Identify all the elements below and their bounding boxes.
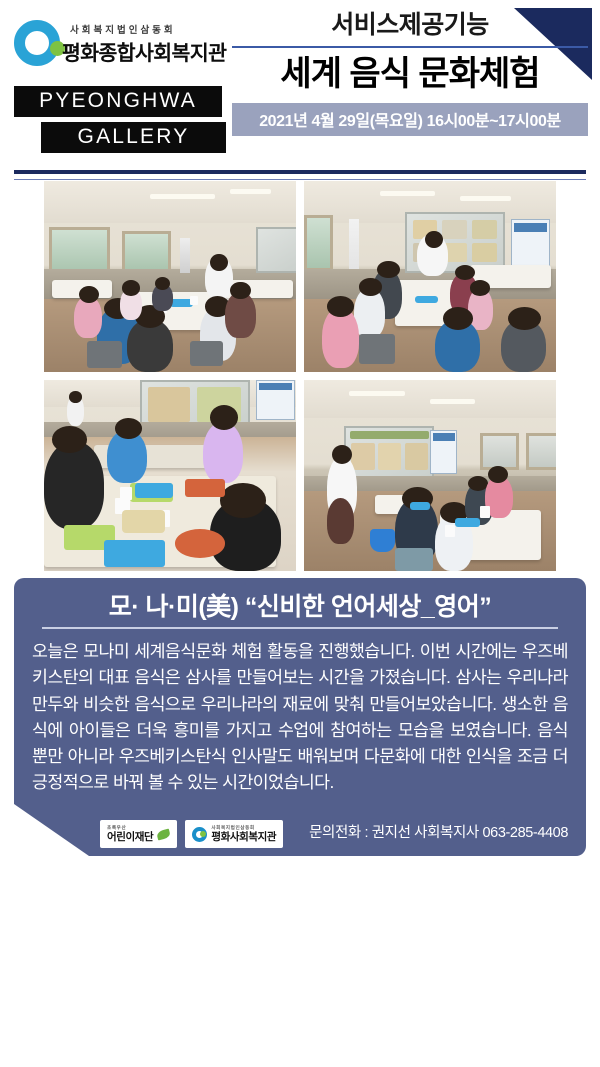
footer-logo-pyeonghwa-name: 평화사회복지관	[211, 832, 276, 843]
panel-footer: 초록우산 어린이재단 사회복지법인삼동회 평화사회복지관 문의전화 : 권지선 …	[14, 810, 586, 856]
logo-center-name: 평화종합사회복지관	[62, 36, 226, 66]
logo-corporation-text: 사회복지법인삼동회	[70, 22, 176, 36]
photo-1	[44, 181, 296, 372]
footer-logo-group: 초록우산 어린이재단 사회복지법인삼동회 평화사회복지관	[100, 820, 283, 848]
footer-logo-childfund-small: 초록우산	[107, 826, 153, 831]
footer-logo-pyeonghwa-small: 사회복지법인삼동회	[211, 826, 276, 831]
header-bottom-rule	[14, 170, 586, 180]
gallery-tag-line2: GALLERY	[41, 122, 226, 153]
panel-title-divider	[42, 627, 558, 629]
photo-2	[304, 181, 556, 372]
gallery-tag: PYEONGHWA GALLERY	[14, 86, 234, 153]
footer-logo-pyeonghwa: 사회복지법인삼동회 평화사회복지관	[185, 820, 283, 848]
footer-ring-icon	[192, 827, 207, 842]
photo-grid	[44, 181, 556, 571]
panel-body-text: 오늘은 모나미 세계음식문화 체험 활동을 진행했습니다. 이번 시간에는 우즈…	[32, 638, 568, 796]
photo-3	[44, 380, 296, 571]
header-title-block: 서비스제공기능 세계 음식 문화체험 2021년 4월 29일(목요일) 16시…	[232, 10, 588, 136]
photo-4	[304, 380, 556, 571]
event-datetime-badge: 2021년 4월 29일(목요일) 16시00분~17시00분	[232, 103, 588, 136]
footer-logo-childfund-name: 어린이재단	[107, 832, 153, 843]
panel-title: 모· 나·미(美) “신비한 언어세상_영어”	[14, 578, 586, 627]
photo-3-scene	[44, 380, 296, 571]
header-divider	[232, 46, 588, 48]
footer-dot-icon	[200, 831, 206, 837]
header-kicker: 서비스제공기능	[232, 10, 588, 41]
leaf-icon	[156, 828, 171, 840]
photo-4-scene	[304, 380, 556, 571]
contact-info: 문의전화 : 권지선 사회복지사 063-285-4408	[309, 821, 568, 842]
description-panel: 모· 나·미(美) “신비한 언어세상_영어” 오늘은 모나미 세계음식문화 체…	[14, 578, 586, 856]
poster-header: 사회복지법인삼동회 평화종합사회복지관 PYEONGHWA GALLERY 서비…	[0, 0, 600, 168]
page-title: 세계 음식 문화체험	[232, 54, 588, 95]
organization-logo: 사회복지법인삼동회 평화종합사회복지관	[14, 14, 232, 74]
gallery-tag-line1: PYEONGHWA	[14, 86, 222, 117]
poster-page: 사회복지법인삼동회 평화종합사회복지관 PYEONGHWA GALLERY 서비…	[0, 0, 600, 1067]
photo-1-scene	[44, 181, 296, 372]
footer-logo-childfund: 초록우산 어린이재단	[100, 820, 177, 848]
photo-2-scene	[304, 181, 556, 372]
